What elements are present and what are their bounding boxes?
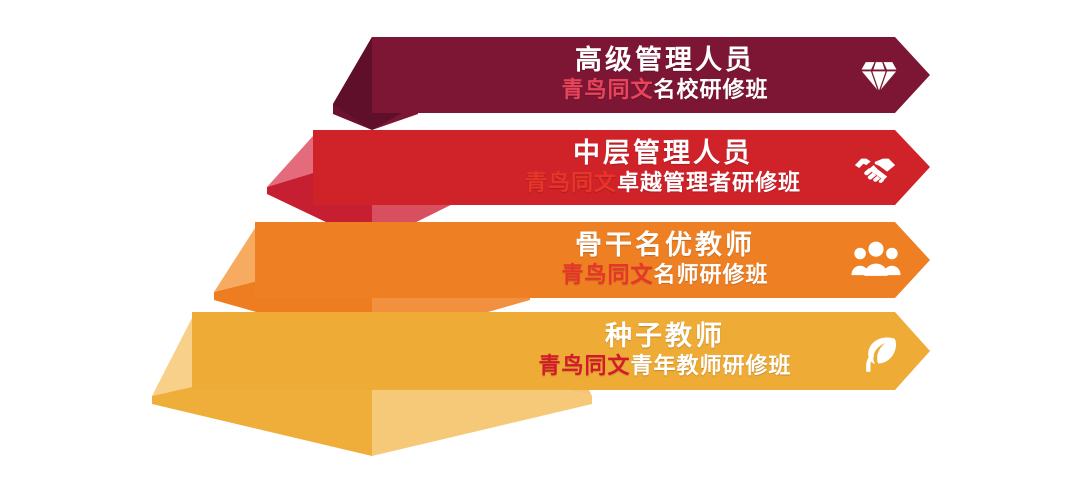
tier-1-subtitle-rest: 名校研修班	[654, 77, 769, 103]
handshake-icon	[852, 145, 898, 191]
tier-1-title: 高级管理人员	[500, 47, 830, 74]
banner-label-tier-2: 中层管理人员 青鸟同文卓越管理者研修班	[468, 140, 858, 194]
diamond-icon	[856, 52, 902, 98]
tier-3-subtitle-rest: 名师研修班	[654, 262, 769, 288]
tier-2-subtitle-brand: 青鸟同文	[525, 170, 617, 196]
tier-3-subtitle: 青鸟同文名师研修班	[500, 264, 830, 286]
people-group-icon	[850, 238, 902, 282]
tier-2-subtitle: 青鸟同文卓越管理者研修班	[468, 172, 858, 194]
tier-2-subtitle-rest: 卓越管理者研修班	[617, 170, 801, 196]
tier-1-subtitle: 青鸟同文名校研修班	[500, 79, 830, 101]
tier-2-title: 中层管理人员	[468, 140, 858, 167]
tier-4-title: 种子教师	[490, 323, 840, 350]
pyramid-diagram: 高级管理人员 青鸟同文名校研修班 中层管理人员 青鸟同文卓越管理者研修班	[0, 0, 1080, 479]
tier-3-subtitle-brand: 青鸟同文	[561, 262, 653, 288]
tier-4-subtitle: 青鸟同文青年教师研修班	[490, 355, 840, 377]
banner-label-tier-3: 骨干名优教师 青鸟同文名师研修班	[500, 232, 830, 286]
tier-1-subtitle-brand: 青鸟同文	[561, 77, 653, 103]
banner-label-tier-4: 种子教师 青鸟同文青年教师研修班	[490, 323, 840, 377]
tier-4-subtitle-rest: 青年教师研修班	[631, 353, 792, 379]
sprout-icon	[856, 330, 900, 376]
tier-3-title: 骨干名优教师	[500, 232, 830, 259]
tier-4-subtitle-brand: 青鸟同文	[538, 353, 630, 379]
banner-label-tier-1: 高级管理人员 青鸟同文名校研修班	[500, 47, 830, 101]
